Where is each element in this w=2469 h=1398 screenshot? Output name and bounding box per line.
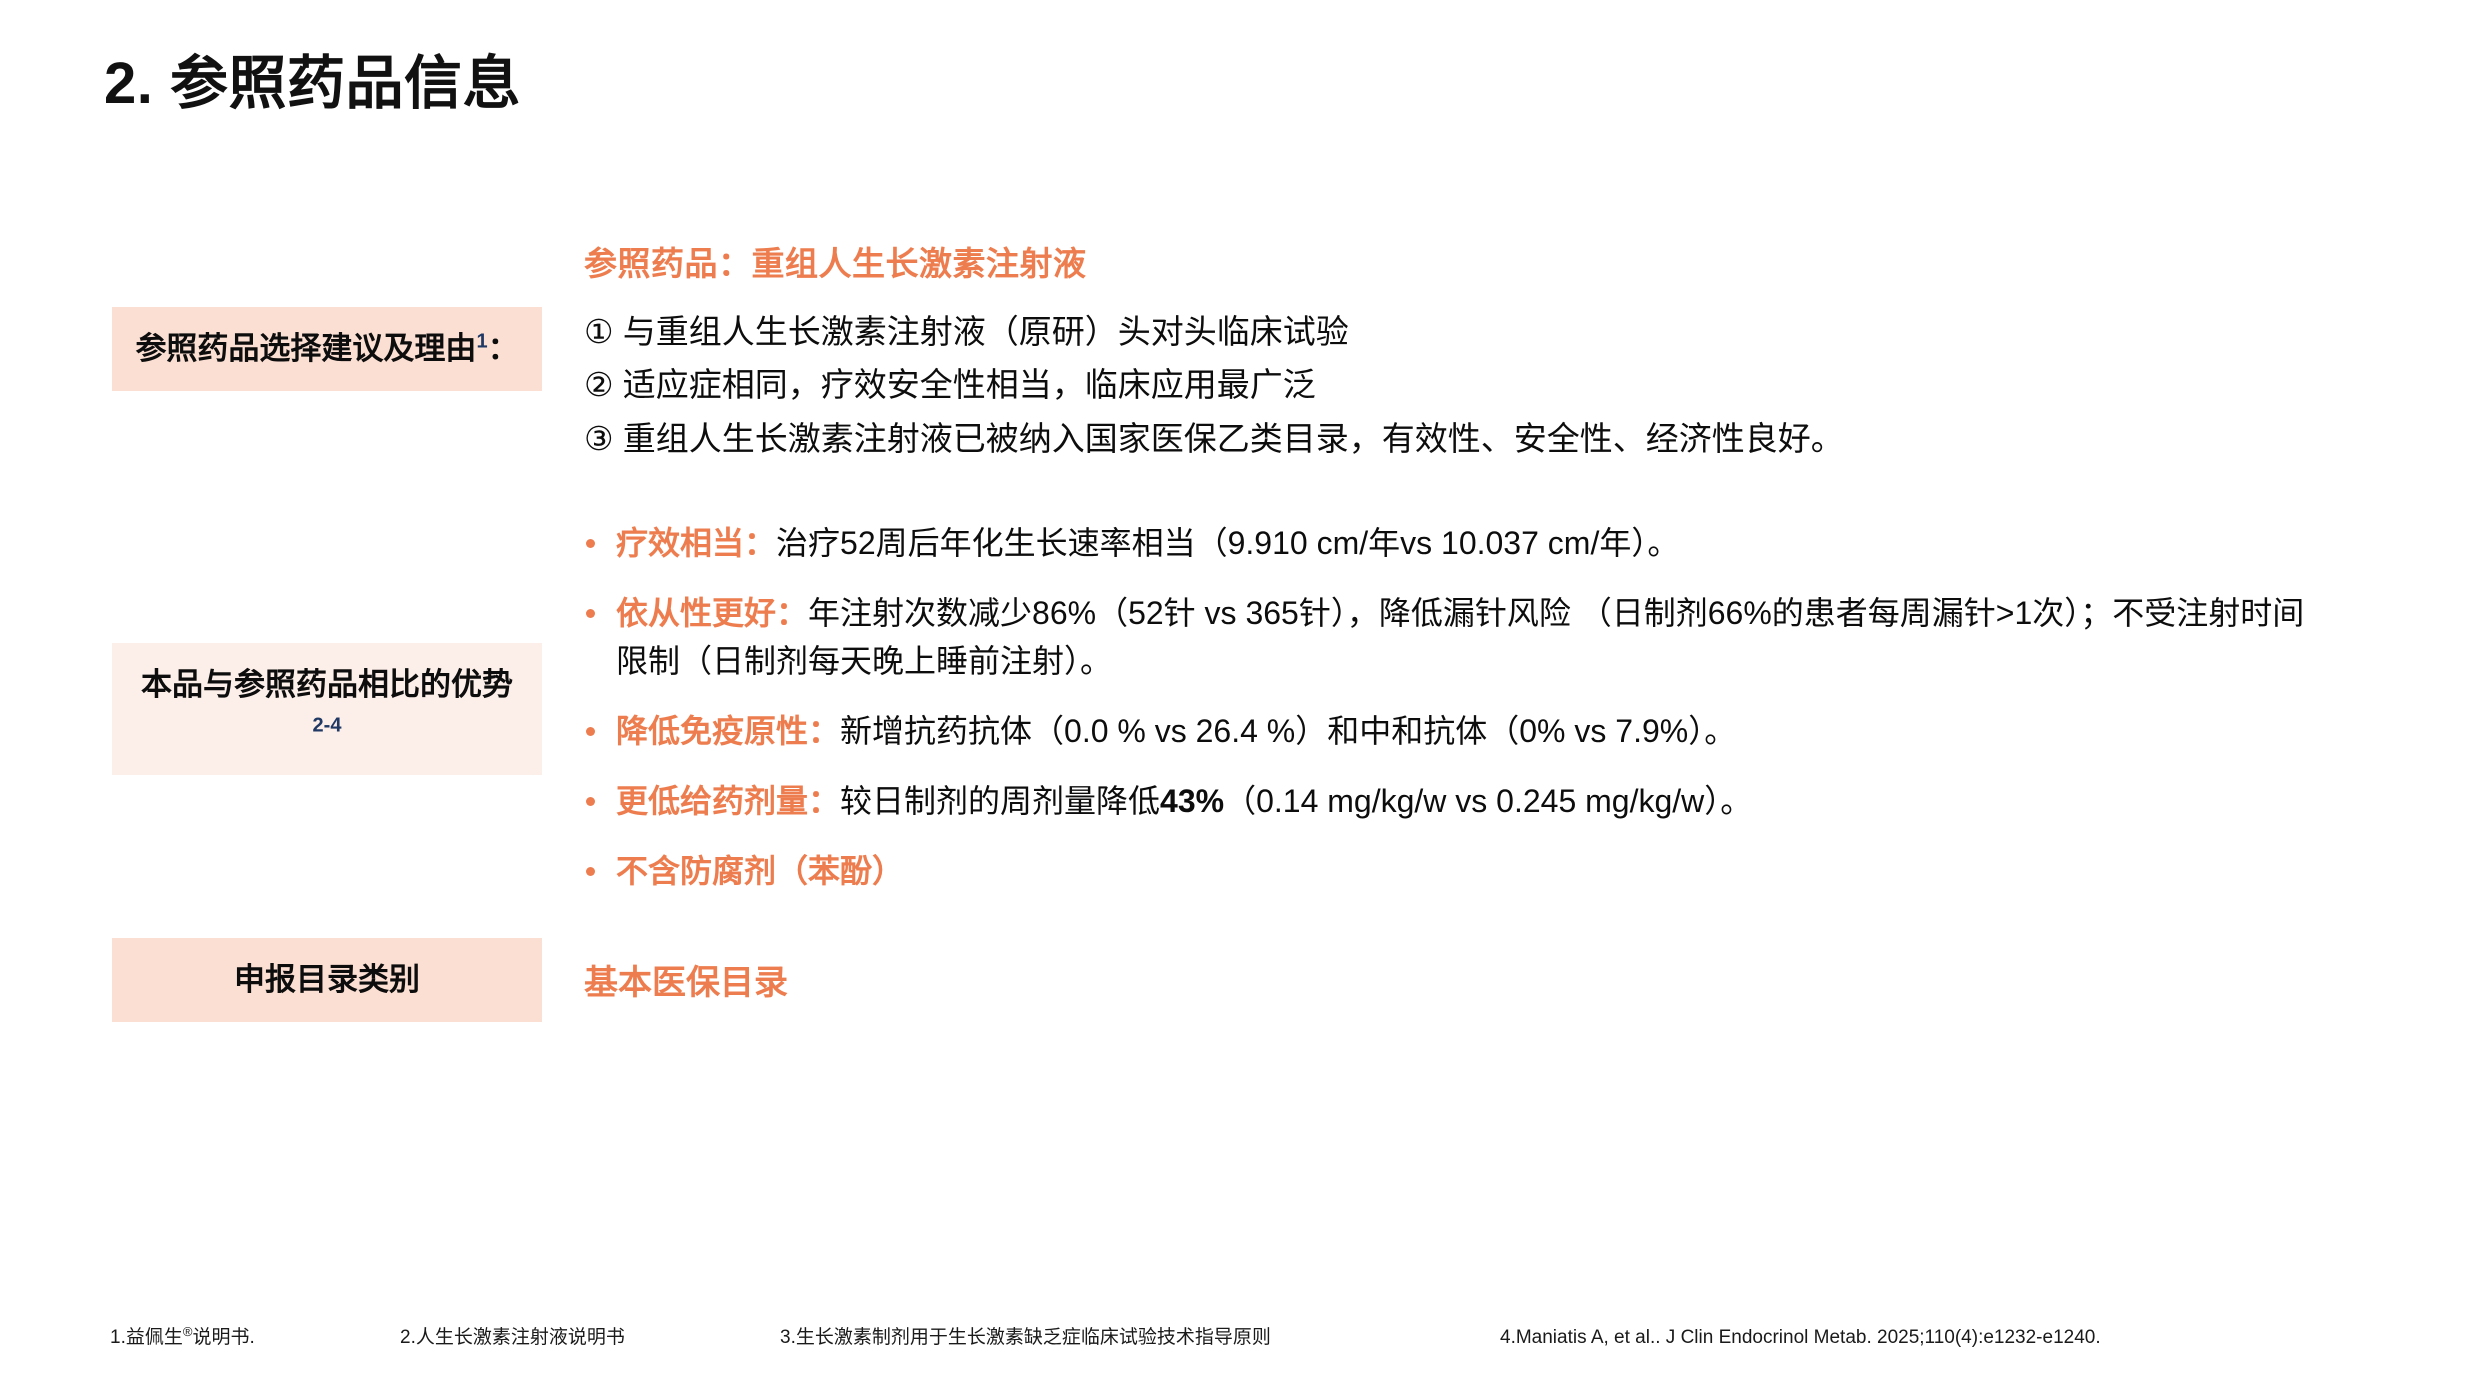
- footnote-references: 1.益佩生®说明书.2.人生长激素注射液说明书3.生长激素制剂用于生长激素缺乏症…: [110, 1322, 2360, 1349]
- list-item: 不含防腐剂（苯酚）: [578, 847, 2330, 895]
- page-title: 2. 参照药品信息: [104, 36, 521, 120]
- advantages-bullet-list: 疗效相当：治疗52周后年化生长速率相当（9.910 cm/年vs 10.037 …: [578, 519, 2330, 895]
- row-body-cell-rationale: 参照药品：重组人生长激素注射液 ① 与重组人生长激素注射液（原研）头对头临床试验…: [543, 206, 2365, 492]
- row-label-advantages: 本品与参照药品相比的优势2-4: [112, 643, 542, 775]
- row-label-advantages-superscript: 2-4: [313, 715, 342, 737]
- list-item: 疗效相当：治疗52周后年化生长速率相当（9.910 cm/年vs 10.037 …: [578, 519, 2330, 567]
- row-label-catalog: 申报目录类别: [112, 938, 542, 1022]
- bullet-lead-efficacy: 疗效相当：: [616, 525, 776, 561]
- footnote-1-suffix: 说明书.: [192, 1322, 254, 1349]
- row-label-cell-advantages: 本品与参照药品相比的优势2-4: [111, 492, 543, 926]
- bullet-lead-adherence: 依从性更好：: [616, 595, 808, 631]
- row-body-cell-catalog: 基本医保目录: [543, 926, 2365, 1033]
- bullet-text-efficacy: 治疗52周后年化生长速率相当（9.910 cm/年vs 10.037 cm/年）…: [776, 525, 1679, 561]
- bullet-lead-immunogenicity: 降低免疫原性：: [616, 713, 840, 749]
- table-row-catalog-category: 申报目录类别 基本医保目录: [111, 926, 2365, 1033]
- catalog-content: 基本医保目录: [544, 927, 2364, 1032]
- catalog-category-value: 基本医保目录: [584, 955, 2330, 1004]
- registered-mark-icon: ®: [183, 1324, 193, 1339]
- row-label-rationale-text: 参照药品选择建议及理由: [135, 331, 476, 366]
- row-label-advantages-text: 本品与参照药品相比的优势: [141, 667, 513, 702]
- footnote-2: 2.人生长激素注射液说明书: [400, 1322, 780, 1349]
- bullet-text-adherence: 年注射次数减少86%（52针 vs 365针），降低漏针风险 （日制剂66%的患…: [616, 595, 2304, 679]
- list-item: 更低给药剂量：较日制剂的周剂量降低43%（0.14 mg/kg/w vs 0.2…: [578, 777, 2330, 825]
- footnote-1-text: 1.益佩生: [110, 1322, 183, 1349]
- bullet-lead-dose: 更低给药剂量：: [616, 783, 840, 819]
- slide-root: 2. 参照药品信息 参照药品选择建议及理由1： 参照药品：重组人生长激素注射液 …: [0, 0, 2469, 1398]
- advantages-content: 疗效相当：治疗52周后年化生长速率相当（9.910 cm/年vs 10.037 …: [544, 493, 2364, 925]
- rationale-item-3: ③ 重组人生长激素注射液已被纳入国家医保乙类目录，有效性、安全性、经济性良好。: [584, 412, 2330, 465]
- table-row-advantages: 本品与参照药品相比的优势2-4 疗效相当：治疗52周后年化生长速率相当（9.91…: [111, 492, 2365, 926]
- bullet-lead-preservative-free: 不含防腐剂（苯酚）: [616, 853, 904, 889]
- bullet-text-dose-before: 较日制剂的周剂量降低: [840, 783, 1160, 819]
- row-label-rationale-superscript: 1: [476, 331, 487, 353]
- row-label-rationale-colon: ：: [488, 331, 519, 366]
- list-item: 降低免疫原性：新增抗药抗体（0.0 % vs 26.4 %）和中和抗体（0% v…: [578, 707, 2330, 755]
- rationale-item-2: ② 适应症相同，疗效安全性相当，临床应用最广泛: [584, 358, 2330, 411]
- list-item: 依从性更好：年注射次数减少86%（52针 vs 365针），降低漏针风险 （日制…: [578, 589, 2330, 685]
- row-label-rationale: 参照药品选择建议及理由1：: [112, 307, 542, 391]
- footnote-4: 4.Maniatis A, et al.. J Clin Endocrinol …: [1500, 1327, 2320, 1349]
- footnote-3: 3.生长激素制剂用于生长激素缺乏症临床试验技术指导原则: [780, 1322, 1500, 1349]
- bullet-text-dose-after: （0.14 mg/kg/w vs 0.245 mg/kg/w）。: [1224, 783, 1752, 819]
- rationale-item-1: ① 与重组人生长激素注射液（原研）头对头临床试验: [584, 305, 2330, 358]
- row-label-cell-catalog: 申报目录类别: [111, 926, 543, 1033]
- footnote-1: 1.益佩生®说明书.: [110, 1322, 400, 1349]
- rationale-content: 参照药品：重组人生长激素注射液 ① 与重组人生长激素注射液（原研）头对头临床试验…: [544, 207, 2364, 491]
- bullet-text-immunogenicity: 新增抗药抗体（0.0 % vs 26.4 %）和中和抗体（0% vs 7.9%）…: [840, 713, 1736, 749]
- row-label-cell-rationale: 参照药品选择建议及理由1：: [111, 206, 543, 492]
- bullet-text-dose-highlight: 43%: [1160, 783, 1224, 819]
- reference-drug-info-table: 参照药品选择建议及理由1： 参照药品：重组人生长激素注射液 ① 与重组人生长激素…: [110, 205, 2366, 1034]
- reference-drug-heading: 参照药品：重组人生长激素注射液: [584, 237, 2330, 285]
- row-body-cell-advantages: 疗效相当：治疗52周后年化生长速率相当（9.910 cm/年vs 10.037 …: [543, 492, 2365, 926]
- table-row-reference-drug-rationale: 参照药品选择建议及理由1： 参照药品：重组人生长激素注射液 ① 与重组人生长激素…: [111, 206, 2365, 492]
